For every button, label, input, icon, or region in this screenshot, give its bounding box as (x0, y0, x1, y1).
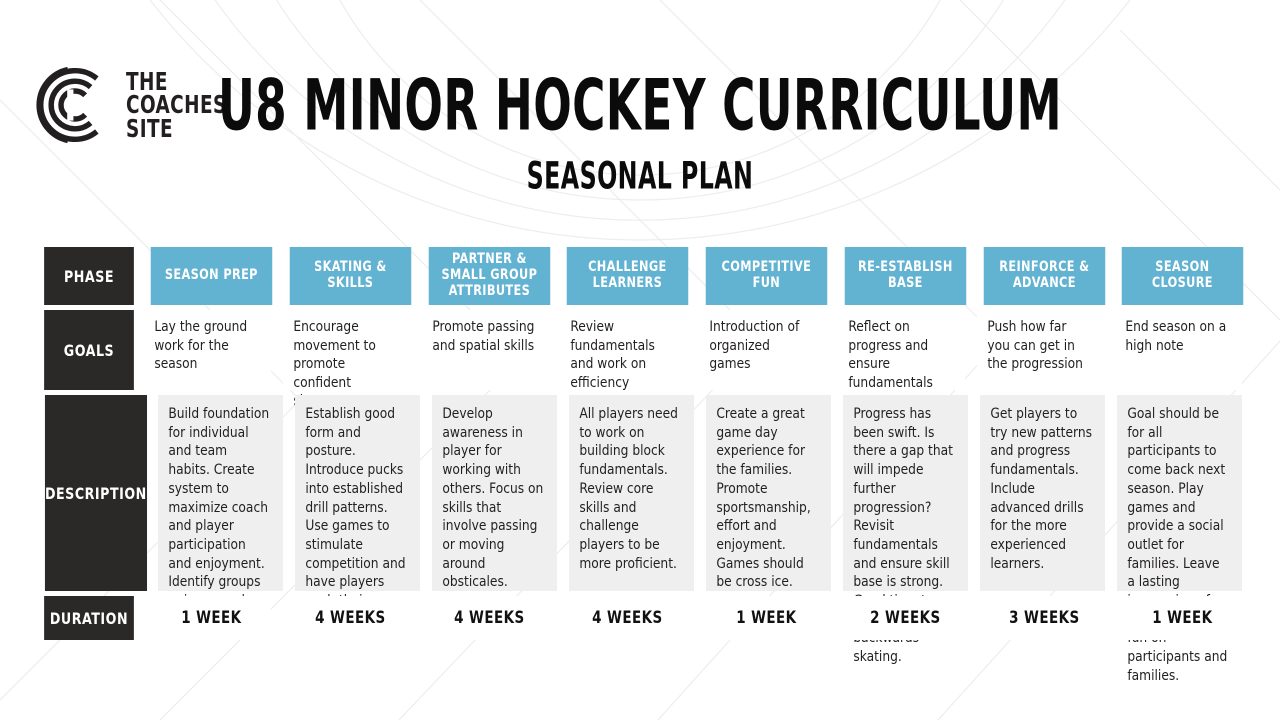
goal-text-1: Lay the ground work for the season (144, 310, 271, 390)
phase-label-5: COMPETITIVE FUN (706, 247, 827, 305)
description-text-5: Create a great game day experience for t… (706, 395, 831, 591)
slide-header: THE COACHES SITE U8 MINOR HOCKEY CURRICU… (0, 0, 1280, 228)
table-cell-description-5[interactable]: Create a great game day experience for t… (706, 395, 839, 591)
table-cell-description-2[interactable]: Establish good form and posture. Introdu… (295, 395, 428, 591)
description-text-7: Get players to try new patterns and prog… (980, 395, 1105, 591)
curriculum-table: PHASE SEASON PREP SKATING & SKILLS PARTN… (38, 247, 1250, 640)
description-text-6: Progress has been swift. Is there a gap … (843, 395, 968, 591)
row-label-duration: DURATION (44, 596, 134, 640)
table-row-phase: PHASE SEASON PREP SKATING & SKILLS PARTN… (38, 247, 1250, 305)
goal-text-3: Promote passing and spatial skills (422, 310, 549, 390)
duration-text-6: 2 WEEKS (846, 596, 965, 640)
description-text-8: Goal should be for all participants to c… (1117, 395, 1242, 591)
table-cell-phase-4[interactable]: CHALLENGE LEARNERS (560, 247, 695, 305)
table-cell-phase-5[interactable]: COMPETITIVE FUN (699, 247, 834, 305)
duration-text-8: 1 WEEK (1123, 596, 1242, 640)
duration-text-4: 4 WEEKS (568, 596, 687, 640)
phase-label-8: SEASON CLOSURE (1122, 247, 1243, 305)
table-cell-description-6[interactable]: Progress has been swift. Is there a gap … (843, 395, 976, 591)
table-cell-duration-1[interactable]: 1 WEEK (144, 596, 279, 640)
table-cell-duration-8[interactable]: 1 WEEK (1115, 596, 1250, 640)
description-text-4: All players need to work on building blo… (569, 395, 694, 591)
table-cell-duration-6[interactable]: 2 WEEKS (838, 596, 973, 640)
goal-text-7: Push how far you can get in the progress… (977, 310, 1104, 390)
phase-label-1: SEASON PREP (151, 247, 272, 305)
table-row-description: DESCRIPTION Build foundation for individ… (38, 395, 1250, 591)
phase-label-6: RE-ESTABLISH BASE (844, 247, 965, 305)
table-cell-goal-4[interactable]: Review fundamentals and work on efficien… (560, 310, 695, 390)
table-cell-duration-5[interactable]: 1 WEEK (699, 596, 834, 640)
row-label-phase: PHASE (44, 247, 134, 305)
table-cell-duration-4[interactable]: 4 WEEKS (560, 596, 695, 640)
row-label-description: DESCRIPTION (45, 395, 147, 591)
table-cell-phase-3[interactable]: PARTNER & SMALL GROUP ATTRIBUTES (422, 247, 557, 305)
table-cell-duration-2[interactable]: 4 WEEKS (283, 596, 418, 640)
table-cell-description-8[interactable]: Goal should be for all participants to c… (1117, 395, 1250, 591)
phase-label-7: REINFORCE & ADVANCE (983, 247, 1104, 305)
table-row-goals: GOALS Lay the ground work for the season… (38, 310, 1250, 390)
table-cell-duration-3[interactable]: 4 WEEKS (422, 596, 557, 640)
table-cell-goal-8[interactable]: End season on a high note (1115, 310, 1250, 390)
goal-text-4: Review fundamentals and work on efficien… (560, 310, 687, 390)
goal-text-6: Reflect on progress and ensure fundament… (838, 310, 965, 390)
duration-text-3: 4 WEEKS (430, 596, 549, 640)
page-subtitle: SEASONAL PLAN (128, 157, 1152, 194)
table-cell-goal-5[interactable]: Introduction of organized games (699, 310, 834, 390)
table-cell-goal-6[interactable]: Reflect on progress and ensure fundament… (838, 310, 973, 390)
goal-text-5: Introduction of organized games (699, 310, 826, 390)
table-cell-description-7[interactable]: Get players to try new patterns and prog… (980, 395, 1113, 591)
slide-canvas: THE COACHES SITE U8 MINOR HOCKEY CURRICU… (0, 0, 1280, 720)
title-block: U8 MINOR HOCKEY CURRICULUM SEASONAL PLAN (0, 74, 1280, 192)
table-cell-goal-1[interactable]: Lay the ground work for the season (144, 310, 279, 390)
description-text-2: Establish good form and posture. Introdu… (295, 395, 420, 591)
phase-label-2: SKATING & SKILLS (289, 247, 410, 305)
table-row-duration: DURATION 1 WEEK 4 WEEKS 4 WEEKS 4 WEEKS … (38, 596, 1250, 640)
table-cell-goal-7[interactable]: Push how far you can get in the progress… (977, 310, 1112, 390)
table-cell-phase-6[interactable]: RE-ESTABLISH BASE (838, 247, 973, 305)
row-label-goals: GOALS (44, 310, 134, 390)
goal-text-2: Encourage movement to promote confident … (283, 310, 410, 390)
table-cell-goal-3[interactable]: Promote passing and spatial skills (422, 310, 557, 390)
table-cell-phase-1[interactable]: SEASON PREP (144, 247, 279, 305)
description-text-1: Build foundation for individual and team… (158, 395, 283, 591)
duration-text-7: 3 WEEKS (985, 596, 1104, 640)
table-cell-phase-2[interactable]: SKATING & SKILLS (283, 247, 418, 305)
table-cell-phase-8[interactable]: SEASON CLOSURE (1115, 247, 1250, 305)
description-text-3: Develop awareness in player for working … (432, 395, 557, 591)
duration-text-5: 1 WEEK (707, 596, 826, 640)
page-title: U8 MINOR HOCKEY CURRICULUM (128, 70, 1152, 141)
duration-text-1: 1 WEEK (152, 596, 271, 640)
goal-text-8: End season on a high note (1115, 310, 1242, 390)
table-cell-description-1[interactable]: Build foundation for individual and team… (158, 395, 291, 591)
phase-label-3: PARTNER & SMALL GROUP ATTRIBUTES (428, 247, 549, 305)
table-cell-duration-7[interactable]: 3 WEEKS (977, 596, 1112, 640)
table-cell-phase-7[interactable]: REINFORCE & ADVANCE (977, 247, 1112, 305)
table-cell-description-3[interactable]: Develop awareness in player for working … (432, 395, 565, 591)
phase-label-4: CHALLENGE LEARNERS (567, 247, 688, 305)
duration-text-2: 4 WEEKS (291, 596, 410, 640)
table-cell-goal-2[interactable]: Encourage movement to promote confident … (283, 310, 418, 390)
table-cell-description-4[interactable]: All players need to work on building blo… (569, 395, 702, 591)
